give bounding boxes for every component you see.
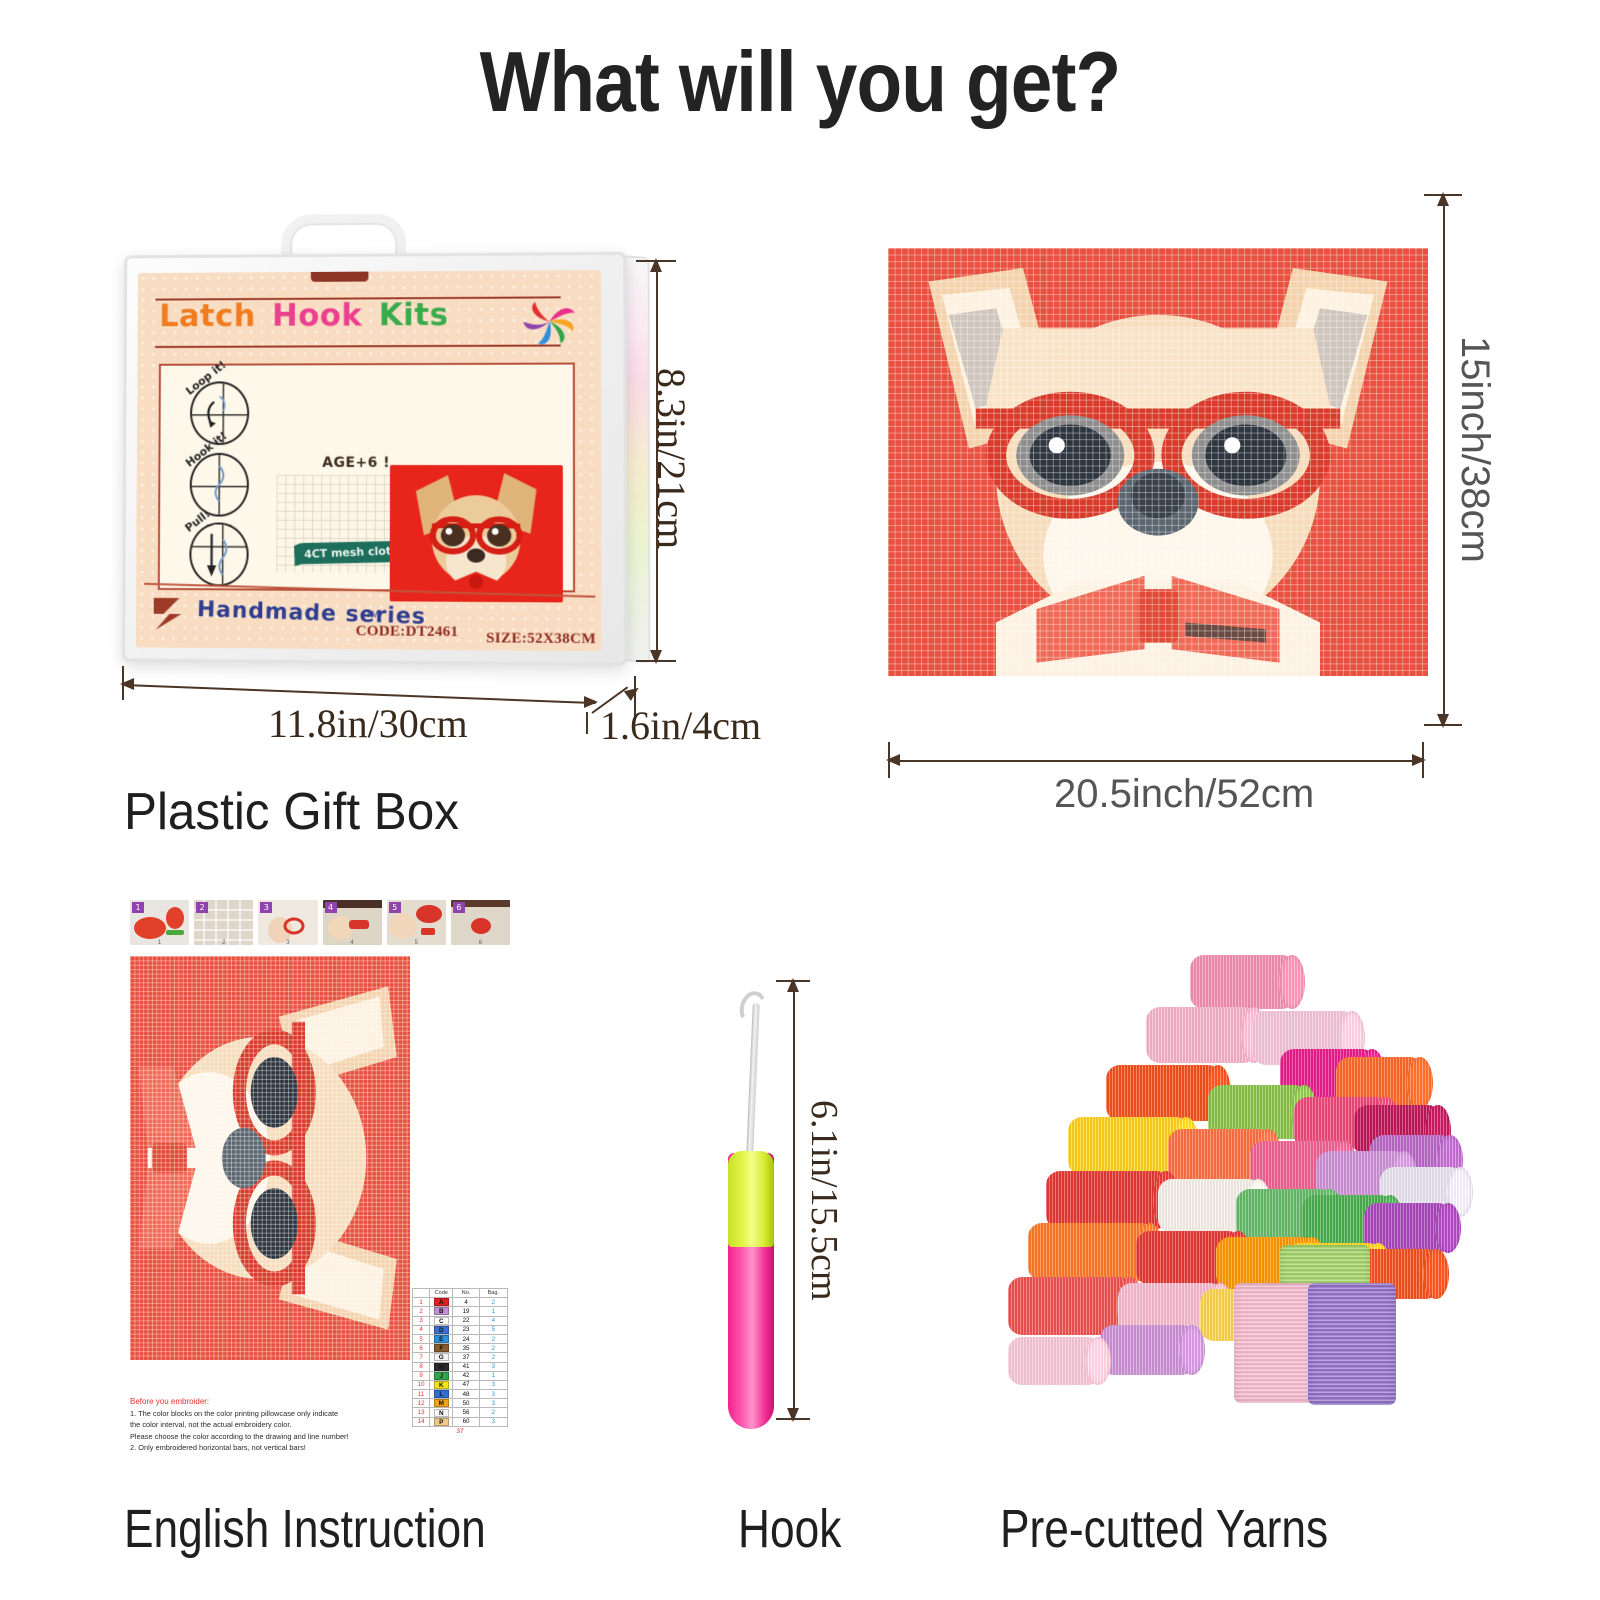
instruction-caption: English Instruction (124, 1498, 486, 1560)
row-index: 2 (413, 1307, 430, 1316)
col-code: Code (430, 1289, 453, 1298)
brand-word-latch: Latch (159, 298, 256, 334)
row-number: 37 (453, 1353, 479, 1362)
row-index: 3 (413, 1316, 430, 1325)
row-color-code: A (430, 1298, 453, 1307)
brand-word-hook: Hook (272, 297, 362, 333)
row-color-code: L (430, 1390, 453, 1399)
row-index: 9 (413, 1371, 430, 1380)
row-color-code: F (430, 1344, 453, 1353)
giftbox-depth-value: 1.6in/4cm (600, 702, 761, 749)
brand-badge (311, 270, 369, 282)
handmade-series-label: Handmade series (197, 597, 427, 630)
thumb-badge: 3 (260, 902, 272, 913)
list-item: 1 1 (130, 900, 189, 945)
row-number: 23 (453, 1325, 479, 1334)
brand-word-kits: Kits (379, 297, 449, 333)
before-line-3: Please choose the color according to the… (130, 1432, 349, 1441)
row-color-code: C (430, 1316, 453, 1325)
col-bag: Bag. (479, 1289, 507, 1298)
row-color-code: B (430, 1307, 453, 1316)
row-color-code: H (430, 1362, 453, 1371)
table-row: 6F352 (413, 1344, 508, 1353)
canvas-height-value: 15inch/38cm (1452, 336, 1497, 563)
table-row: 12M503 (413, 1399, 508, 1408)
list-item: 6 6 (451, 900, 510, 945)
row-color-code: M (430, 1399, 453, 1408)
giftbox-height-value: 8.3in/21cm (648, 368, 695, 549)
printed-canvas-image (888, 248, 1428, 676)
code-table-total: 37 (413, 1426, 508, 1435)
mesh-cloth-banner: 4CT mesh cloth (294, 539, 410, 567)
hook-shaft (746, 1003, 760, 1159)
row-bag: 1 (479, 1307, 507, 1316)
row-index: 6 (413, 1344, 430, 1353)
before-heading: Before you embroider: (130, 1396, 404, 1407)
table-row: 1A42 (413, 1298, 508, 1307)
row-number: 4 (453, 1298, 479, 1307)
before-line-1: 1. The color blocks on the color printin… (130, 1409, 338, 1418)
product-code-label: CODE:DT2461 (356, 623, 459, 641)
list-item: 2 2 (194, 900, 253, 945)
row-color-code: N (430, 1408, 453, 1417)
giftbox-width-value: 11.8in/30cm (268, 700, 468, 747)
row-bag: 2 (479, 1298, 507, 1307)
row-number: 60 (453, 1417, 479, 1426)
handmade-logo-icon (150, 594, 192, 634)
color-code-table: Code No. Bag. 1A422B1913C2244D2355E2426F… (412, 1288, 508, 1436)
table-row: 7G372 (413, 1353, 508, 1362)
row-bag: 2 (479, 1353, 507, 1362)
table-row: 11L483 (413, 1390, 508, 1399)
row-color-code: G (430, 1353, 453, 1362)
thumb-caption: 1 (130, 940, 189, 945)
row-number: 24 (453, 1334, 479, 1343)
thumb-caption: 6 (451, 940, 510, 945)
precut-yarns-image (950, 945, 1470, 1445)
row-bag: 3 (479, 1417, 507, 1426)
row-bag: 1 (479, 1371, 507, 1380)
row-bag: 3 (479, 1390, 507, 1399)
hook-handle-green (728, 1151, 774, 1247)
thumb-badge: 1 (132, 902, 144, 913)
table-row: 13N562 (413, 1408, 508, 1417)
row-number: 48 (453, 1390, 479, 1399)
row-number: 41 (453, 1362, 479, 1371)
giftbox-caption: Plastic Gift Box (124, 782, 459, 842)
row-bag: 4 (479, 1316, 507, 1325)
row-index: 10 (413, 1380, 430, 1389)
list-item: 3 3 (258, 900, 317, 945)
row-number: 50 (453, 1399, 479, 1408)
finished-product-photo (390, 465, 563, 602)
row-index: 5 (413, 1334, 430, 1343)
pinwheel-logo-icon (518, 290, 581, 352)
row-number: 19 (453, 1307, 479, 1316)
hook-caption: Hook (738, 1498, 841, 1560)
table-row: 14P603 (413, 1417, 508, 1426)
page-title: What will you get? (96, 34, 1504, 132)
row-index: 13 (413, 1408, 430, 1417)
row-bag: 3 (479, 1362, 507, 1371)
yarns-caption: Pre-cutted Yarns (1000, 1498, 1328, 1560)
row-bag: 2 (479, 1408, 507, 1417)
row-number: 22 (453, 1316, 479, 1325)
canvas-width-value: 20.5inch/52cm (1054, 772, 1314, 817)
row-color-code: J (430, 1371, 453, 1380)
row-bag: 5 (479, 1325, 507, 1334)
thumb-badge: 5 (389, 902, 401, 913)
hook-length-value: 6.1in/15.5cm (802, 1100, 846, 1301)
row-index: 1 (413, 1298, 430, 1307)
row-index: 8 (413, 1362, 430, 1371)
list-item: 5 5 (387, 900, 446, 945)
table-row: 9J421 (413, 1371, 508, 1380)
row-color-code: P (430, 1417, 453, 1426)
table-row: 3C224 (413, 1316, 508, 1325)
gift-box-image: Latch Hook Kits (112, 205, 657, 675)
thumb-badge: 6 (453, 902, 465, 913)
age-label: AGE+6 ! (322, 455, 390, 471)
row-index: 7 (413, 1353, 430, 1362)
thumb-caption: 3 (258, 940, 317, 945)
row-number: 42 (453, 1371, 479, 1380)
row-bag: 2 (479, 1334, 507, 1343)
thumb-caption: 5 (387, 940, 446, 945)
row-index: 14 (413, 1417, 430, 1426)
table-row: 2B191 (413, 1307, 508, 1316)
row-index: 11 (413, 1390, 430, 1399)
row-bag: 2 (479, 1344, 507, 1353)
col-index (413, 1289, 430, 1298)
thumb-badge: 2 (196, 902, 208, 913)
infographic-page: What will you get? Latch Hook Kits (0, 0, 1600, 1600)
list-item: 4 4 (323, 900, 382, 945)
thumb-caption: 2 (194, 940, 253, 945)
table-row: 5E242 (413, 1334, 508, 1343)
step-thumbnail-strip: 1 1 2 2 3 3 4 4 5 (130, 900, 510, 948)
table-header-row: Code No. Bag. (413, 1289, 508, 1298)
row-number: 35 (453, 1344, 479, 1353)
before-line-4: 2. Only embroidered horizontal bars, not… (130, 1443, 306, 1452)
row-number: 56 (453, 1408, 479, 1417)
brand-title: Latch Hook Kits (159, 296, 577, 350)
canvas-dog-pattern (888, 248, 1428, 676)
row-number: 47 (453, 1380, 479, 1389)
row-color-code: D (430, 1325, 453, 1334)
instruction-chart (130, 956, 410, 1360)
before-line-2: the color interval, not the actual embro… (130, 1420, 291, 1429)
row-index: 4 (413, 1325, 430, 1334)
thumb-badge: 4 (325, 902, 337, 913)
thumb-caption: 4 (323, 940, 382, 945)
row-bag: 3 (479, 1380, 507, 1389)
col-no: No. (453, 1289, 479, 1298)
row-bag: 3 (479, 1399, 507, 1408)
before-you-embroider-note: Before you embroider: 1. The color block… (130, 1396, 404, 1453)
table-row: 10K473 (413, 1380, 508, 1389)
row-index: 12 (413, 1399, 430, 1408)
table-row: 4D235 (413, 1325, 508, 1334)
row-color-code: E (430, 1334, 453, 1343)
product-size-label: SIZE:52X38CM (486, 630, 596, 648)
step-circle-pull (189, 522, 248, 586)
box-printed-card: Latch Hook Kits (136, 270, 602, 651)
row-color-code: K (430, 1380, 453, 1389)
table-row: 8H413 (413, 1362, 508, 1371)
english-instruction-image: 1 1 2 2 3 3 4 4 5 (126, 900, 511, 1480)
